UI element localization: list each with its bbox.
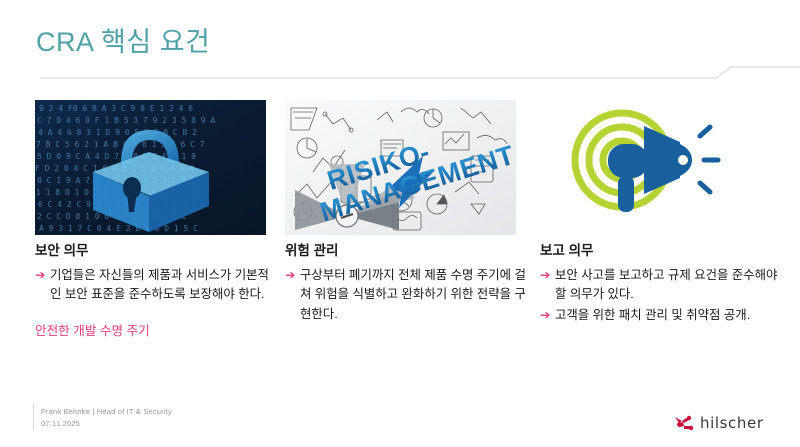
column-heading: 보고 의무 [540, 243, 788, 260]
bullet-list: ➔ 기업들은 자신들의 제품과 서비스가 기본적인 보안 표준을 준수하도록 보… [35, 266, 280, 305]
bullet-list: ➔ 보안 사고를 보고하고 규제 요건을 준수해야 할 의무가 있다. ➔ 고객… [540, 266, 788, 326]
footer-date: 07.11.2025 [41, 418, 172, 430]
list-item: ➔ 구상부터 폐기까지 전체 제품 수명 주기에 걸쳐 위험을 식별하고 완화하… [285, 266, 530, 325]
footer-meta: Frank Behnke | Head of IT & Security 07.… [41, 406, 172, 430]
bullet-list: ➔ 구상부터 폐기까지 전체 제품 수명 주기에 걸쳐 위험을 식별하고 완화하… [285, 266, 530, 325]
svg-text:4 A 4 6 8 3 1 D 9 0 5 3 F 0: 4 A 4 6 8 3 1 D 9 0 5 3 F 0 C B 2 [38, 128, 197, 137]
bullet-text: 구상부터 폐기까지 전체 제품 수명 주기에 걸쳐 위험을 식별하고 완화하기 … [300, 268, 526, 321]
svg-text:7 B C 5 6 2 1 A B C 1 6 1 3: 7 B C 5 6 2 1 A B C 1 6 1 3 7 6 C 7 [36, 140, 205, 149]
bullet-text: 보안 사고를 보고하고 규제 요건을 준수해야 할 의무가 있다. [555, 268, 777, 302]
hilscher-logo: hilscher [674, 414, 764, 432]
column-heading: 보안 의무 [35, 243, 280, 260]
risk-management-image: RISIKO- MANAGEMENT [285, 100, 516, 235]
accent-note: 안전한 개발 수명 주기 [35, 322, 280, 341]
slide-canvas: CRA 핵심 요건 [0, 0, 800, 447]
list-item: ➔ 보안 사고를 보고하고 규제 요건을 준수해야 할 의무가 있다. [540, 266, 788, 305]
column-security-obligations: 보안 의무 ➔ 기업들은 자신들의 제품과 서비스가 기본적인 보안 표준을 준… [35, 243, 280, 341]
list-item: ➔ 기업들은 자신들의 제품과 서비스가 기본적인 보안 표준을 준수하도록 보… [35, 266, 280, 305]
header-divider [0, 62, 800, 86]
svg-text:9 2 4 F0 6 B A 3 C 9 8 E 1 2: 9 2 4 F0 6 B A 3 C 9 8 E 1 2 4 6 [39, 104, 193, 113]
footer-author: Frank Behnke | Head of IT & Security [41, 406, 172, 418]
arrow-bullet-icon: ➔ [540, 266, 550, 286]
column-heading: 위험 관리 [285, 243, 530, 260]
list-item: ➔ 고객을 위한 패치 관리 및 취약점 공개. [540, 306, 788, 326]
arrow-bullet-icon: ➔ [35, 266, 45, 286]
svg-text:C 7 0 4 6 0 F 1 B 5 3 7 9 2 3: C 7 0 4 6 0 F 1 B 5 3 7 9 2 3 5 8 9 A [37, 116, 215, 125]
footer-divider [33, 404, 34, 430]
bullet-text: 기업들은 자신들의 제품과 서비스가 기본적인 보안 표준을 준수하도록 보장해… [50, 268, 269, 302]
hilscher-wordmark: hilscher [700, 414, 764, 432]
arrow-bullet-icon: ➔ [540, 306, 550, 326]
column-risk-management: 위험 관리 ➔ 구상부터 폐기까지 전체 제품 수명 주기에 걸쳐 위험을 식별… [285, 243, 530, 326]
column-reporting-obligations: 보고 의무 ➔ 보안 사고를 보고하고 규제 요건을 준수해야 할 의무가 있다… [540, 243, 788, 327]
padlock-cybersecurity-image: 9 2 4 F0 6 B A 3 C 9 8 E 1 2 4 6 C 7 0 4… [35, 100, 266, 235]
hilscher-mark-icon [674, 415, 694, 431]
page-title: CRA 핵심 요건 [36, 20, 210, 59]
bullet-text: 고객을 위한 패치 관리 및 취약점 공개. [555, 308, 750, 322]
svg-text:A 9 3 1 7 C 0 4 E 2 B 6 8 D 1: A 9 3 1 7 C 0 4 E 2 B 6 8 D 1 5 C [39, 224, 198, 233]
megaphone-icon-image [540, 100, 771, 235]
arrow-bullet-icon: ➔ [285, 266, 295, 286]
